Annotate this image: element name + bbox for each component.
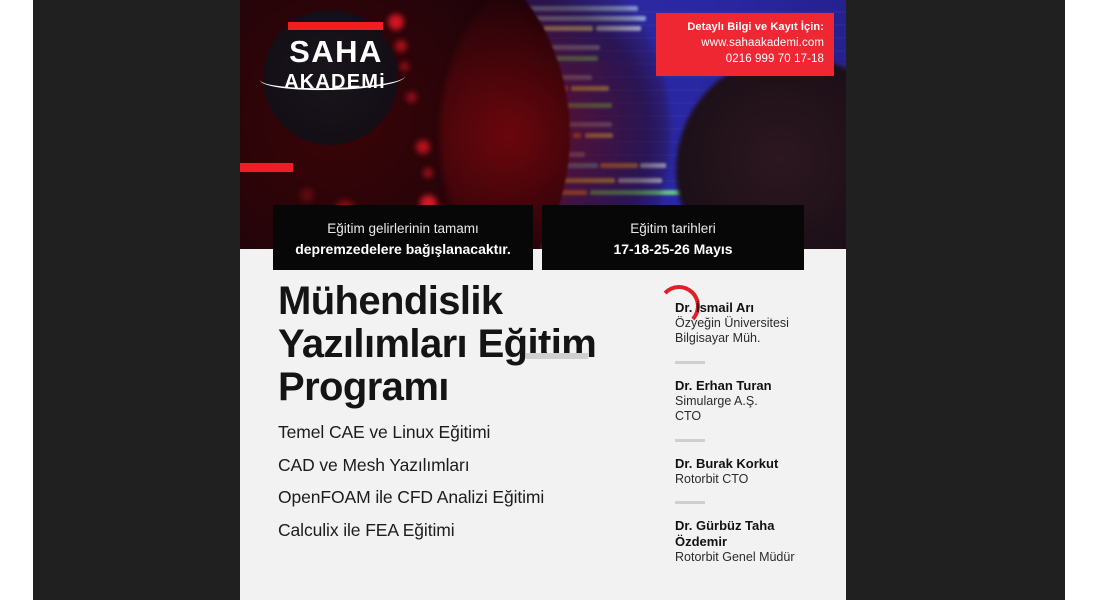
contact-box: Detaylı Bilgi ve Kayıt İçin: www.sahaaka…	[656, 13, 834, 76]
donation-lead: Eğitim gelirlerinin tamamı	[273, 219, 533, 239]
poster: SAHA AKADEMi Detaylı Bilgi ve Kayıt İçin…	[240, 0, 846, 600]
list-item: Dr. İsmail Arı Özyeğin Üniversitesi Bilg…	[675, 300, 825, 347]
list-item: OpenFOAM ile CFD Analizi Eğitimi	[278, 489, 658, 507]
page-title: Mühendislik Yazılımları Eğitim Programı	[278, 280, 678, 408]
logo-akademi-text: AKADEMi	[280, 72, 390, 92]
info-box-dates: Eğitim tarihleri 17-18-25-26 Mayıs	[542, 205, 804, 270]
dates-lead: Eğitim tarihleri	[542, 219, 804, 239]
contact-title: Detaylı Bilgi ve Kayıt İçin:	[666, 21, 824, 33]
speaker-list: Dr. İsmail Arı Özyeğin Üniversitesi Bilg…	[675, 300, 825, 569]
speaker-name: Dr. İsmail Arı	[675, 300, 825, 316]
logo-accent-bar	[240, 163, 293, 172]
speaker-name: Dr. Gürbüz Taha Özdemir	[675, 518, 825, 550]
course-list: Temel CAE ve Linux Eğitimi CAD ve Mesh Y…	[278, 424, 658, 554]
speaker-separator	[675, 361, 705, 364]
info-box-donation: Eğitim gelirlerinin tamamı depremzedeler…	[273, 205, 533, 270]
speaker-name: Dr. Burak Korkut	[675, 456, 825, 472]
speaker-name: Dr. Erhan Turan	[675, 378, 825, 394]
speaker-affiliation: Özyeğin Üniversitesi	[675, 316, 825, 332]
speaker-affiliation: Simularge A.Ş.	[675, 394, 825, 410]
bokeh-dot	[388, 14, 404, 30]
bokeh-dot	[423, 168, 433, 178]
logo-saha-text: SAHA	[288, 36, 384, 67]
list-item: Dr. Erhan Turan Simularge A.Ş. CTO	[675, 378, 825, 425]
bokeh-dot	[300, 188, 314, 202]
speaker-role: CTO	[675, 409, 825, 425]
headline-rule	[526, 353, 588, 359]
list-item: CAD ve Mesh Yazılımları	[278, 457, 658, 475]
dates-strong: 17-18-25-26 Mayıs	[542, 239, 804, 259]
list-item: Calculix ile FEA Eğitimi	[278, 522, 658, 540]
contact-phone[interactable]: 0216 999 70 17-18	[666, 52, 824, 68]
list-item: Dr. Gürbüz Taha Özdemir Rotorbit Genel M…	[675, 518, 825, 565]
bokeh-dot	[400, 62, 409, 71]
logo-red-bar	[288, 22, 383, 30]
list-item: Dr. Burak Korkut Rotorbit CTO	[675, 456, 825, 487]
speaker-separator	[675, 501, 705, 504]
list-item: Temel CAE ve Linux Eğitimi	[278, 424, 658, 442]
image-viewer: SAHA AKADEMi Detaylı Bilgi ve Kayıt İçin…	[0, 0, 1100, 600]
contact-website[interactable]: www.sahaakademi.com	[666, 36, 824, 52]
speaker-role: Bilgisayar Müh.	[675, 331, 825, 347]
speaker-affiliation: Rotorbit CTO	[675, 472, 825, 488]
speaker-affiliation: Rotorbit Genel Müdür	[675, 550, 825, 566]
bokeh-dot	[406, 92, 417, 103]
speaker-separator	[675, 439, 705, 442]
bokeh-dot	[395, 40, 407, 52]
bokeh-dot	[416, 140, 430, 154]
donation-strong: depremzedelere bağışlanacaktır.	[273, 239, 533, 259]
